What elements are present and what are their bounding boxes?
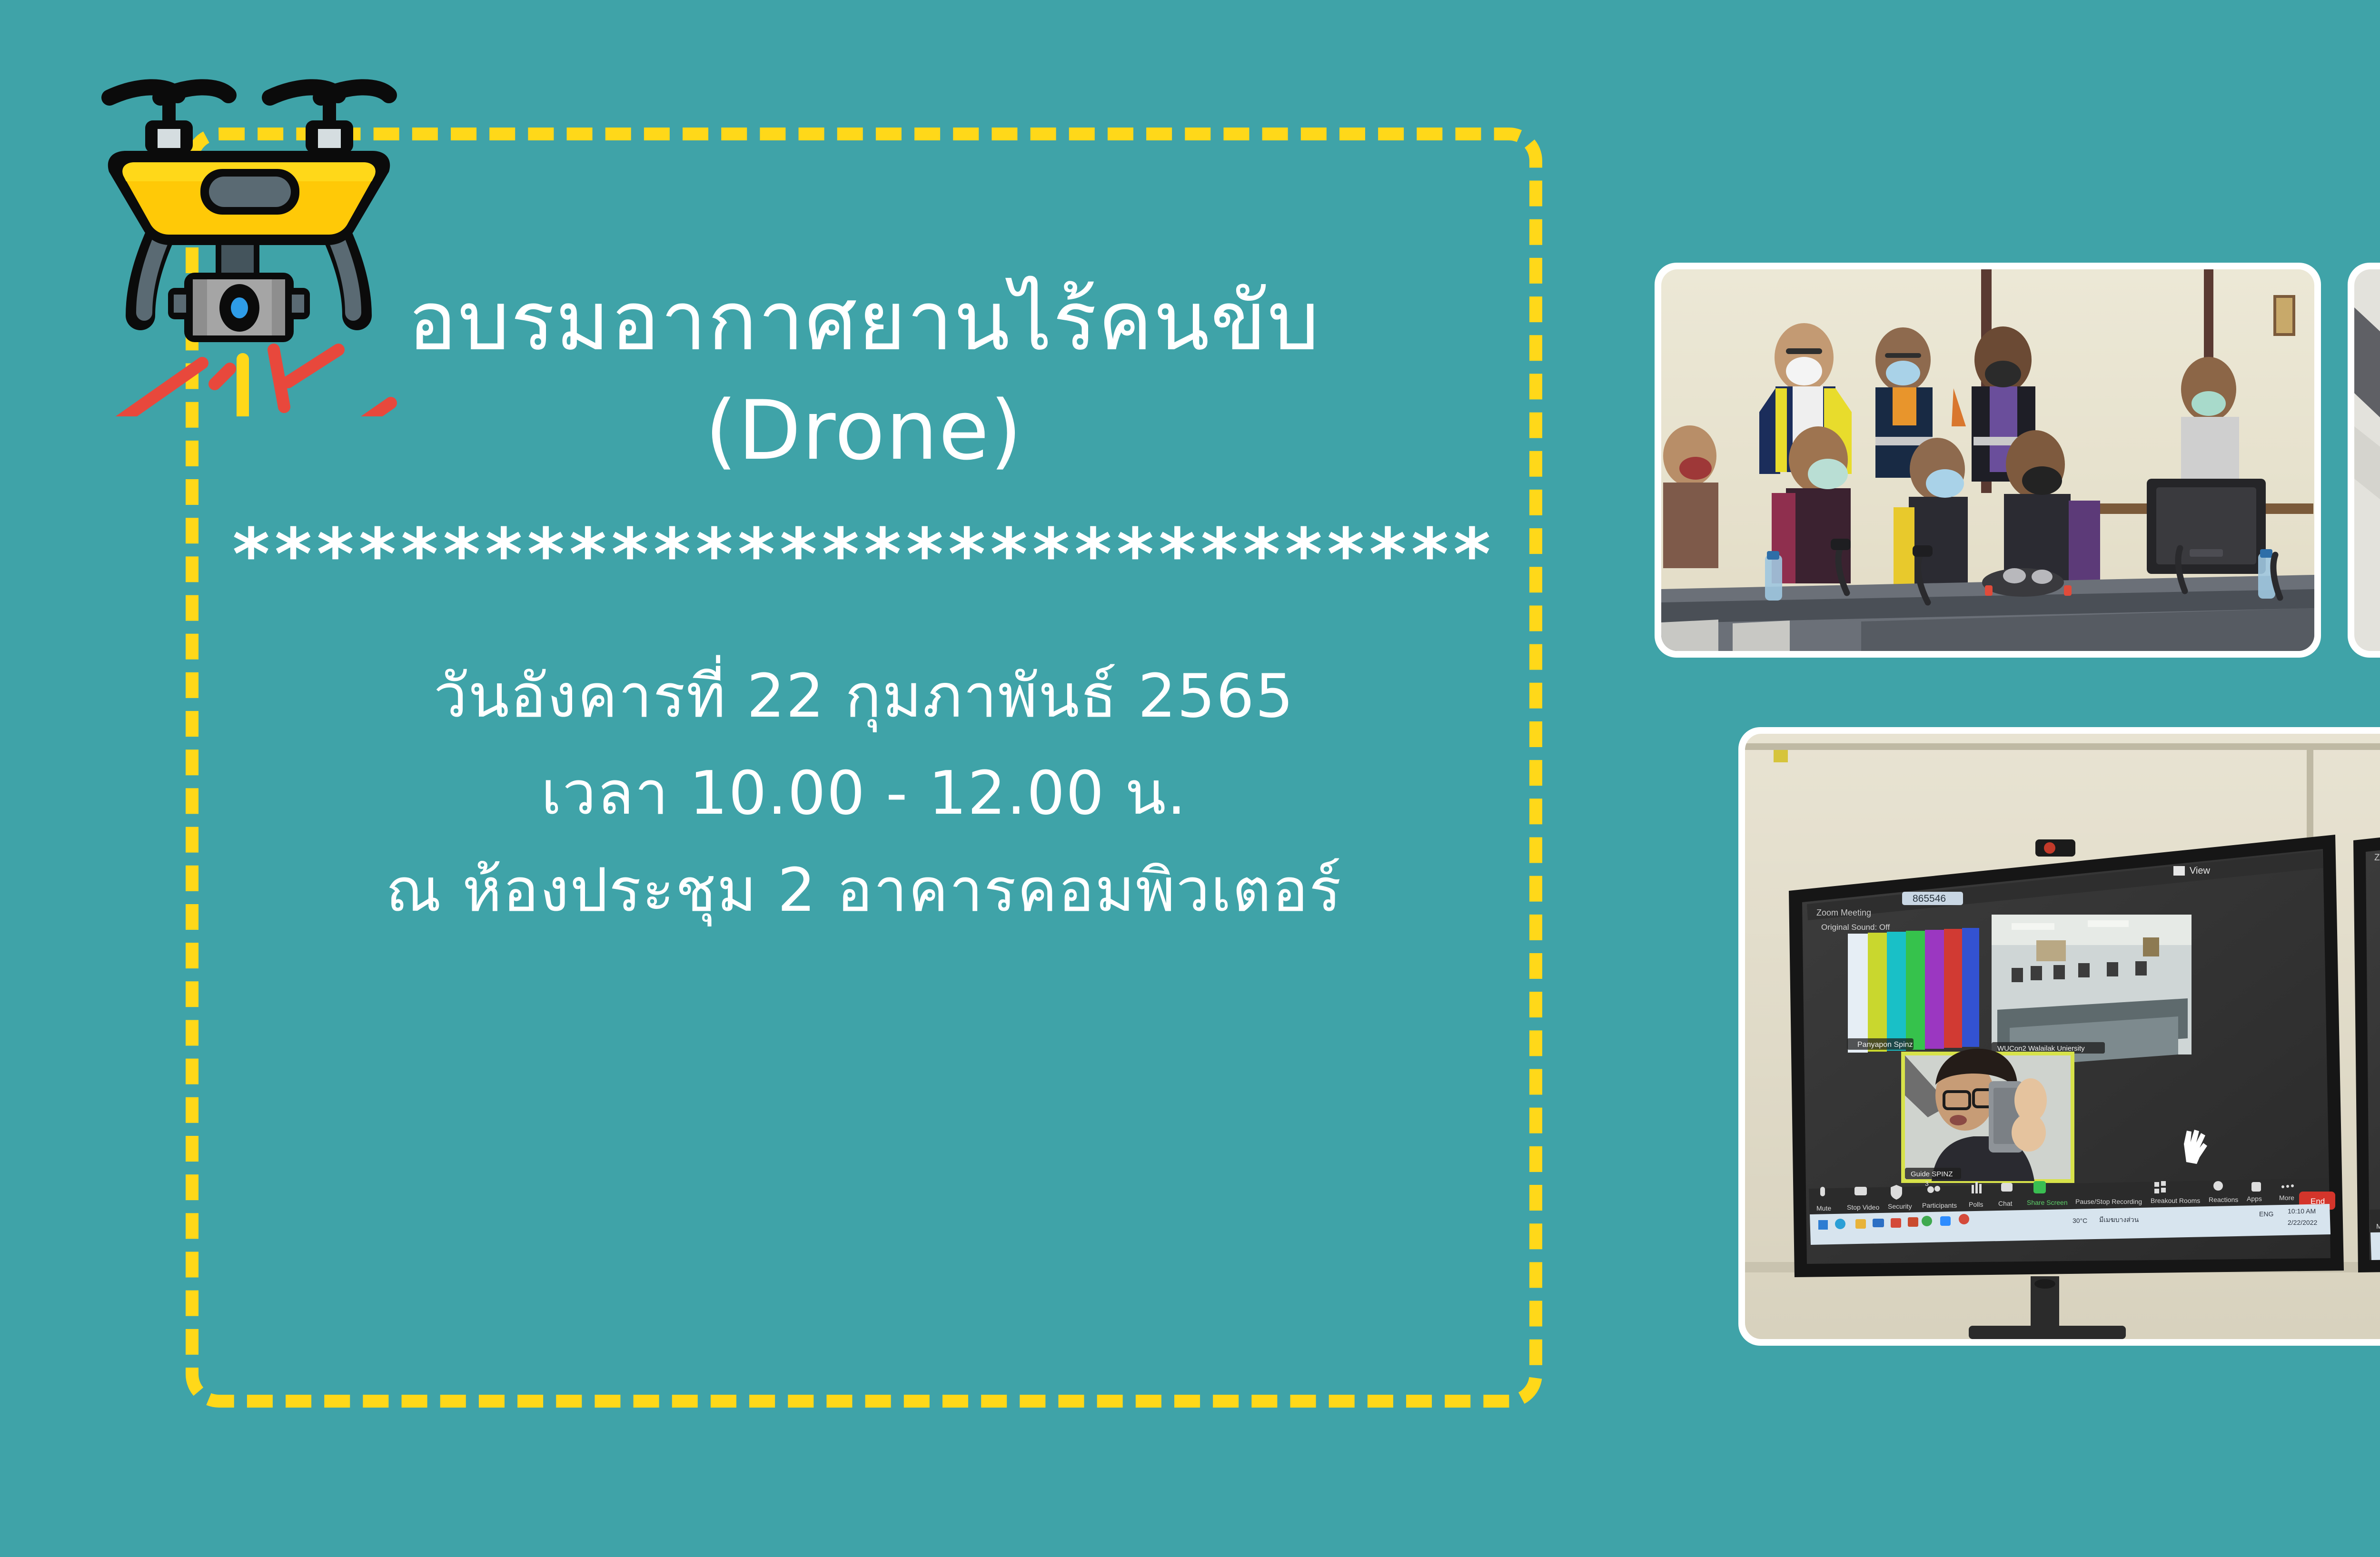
svg-text:Chat: Chat — [1998, 1200, 2013, 1207]
photo-speaker — [2348, 263, 2380, 658]
svg-text:มีเมฆบางส่วน: มีเมฆบางส่วน — [2099, 1216, 2139, 1223]
page-title-line-1: อบรมอากาศยานไร้คนขับ — [186, 266, 1542, 376]
svg-text:Security: Security — [1888, 1202, 1912, 1210]
svg-text:Reactions: Reactions — [2209, 1196, 2238, 1203]
asterisk-divider: ****************************** — [186, 519, 1542, 591]
svg-text:Participants: Participants — [1922, 1202, 1957, 1209]
svg-text:10:10 AM: 10:10 AM — [2288, 1207, 2316, 1215]
svg-text:Zoom Meeting: Zoom Meeting — [2374, 853, 2380, 863]
svg-text:865546: 865546 — [1913, 893, 1946, 904]
poster-canvas: อบรมอากาศยานไร้คนขับ (Drone) ***********… — [0, 0, 2380, 1557]
event-time: เวลา 10.00 - 12.00 น. — [186, 745, 1542, 842]
event-details: วันอังคารที่ 22 กุมภาพันธ์ 2565 เวลา 10.… — [186, 648, 1542, 939]
svg-text:ENG: ENG — [2259, 1210, 2273, 1218]
event-venue: ณ ห้องประชุม 2 อาคารคอมพิวเตอร์ — [186, 842, 1542, 939]
svg-text:Guide SPINZ: Guide SPINZ — [1911, 1170, 1953, 1178]
svg-text:View: View — [2190, 866, 2211, 876]
svg-text:Pause/Stop Recording: Pause/Stop Recording — [2075, 1198, 2142, 1205]
poster-text-block: อบรมอากาศยานไร้คนขับ (Drone) ***********… — [186, 266, 1542, 939]
svg-text:Panyapon Spinz: Panyapon Spinz — [1857, 1041, 1913, 1049]
photo-screens: 865546 Zoom Meeting Original Sound: Off … — [1738, 727, 2380, 1346]
svg-text:Original Sound: Off: Original Sound: Off — [1821, 923, 1890, 932]
photo-meeting-room — [1655, 263, 2321, 658]
event-date: วันอังคารที่ 22 กุมภาพันธ์ 2565 — [186, 648, 1542, 745]
svg-text:Share Screen: Share Screen — [2027, 1199, 2068, 1206]
svg-text:2/22/2022: 2/22/2022 — [2288, 1219, 2317, 1226]
svg-text:Breakout Rooms: Breakout Rooms — [2151, 1197, 2200, 1204]
svg-text:WUCon2 Walailak Uniersity: WUCon2 Walailak Uniersity — [1997, 1045, 2085, 1053]
svg-text:Zoom Meeting: Zoom Meeting — [1816, 908, 1871, 917]
svg-text:Mute: Mute — [1816, 1204, 1831, 1212]
svg-text:Stop Video: Stop Video — [1847, 1203, 1879, 1211]
svg-text:Polls: Polls — [1969, 1201, 1983, 1208]
svg-text:3: 3 — [1925, 1180, 1929, 1187]
svg-text:Apps: Apps — [2247, 1195, 2262, 1202]
svg-text:30°C: 30°C — [2073, 1217, 2087, 1224]
svg-text:More: More — [2279, 1194, 2294, 1202]
svg-text:Mute: Mute — [2376, 1222, 2380, 1231]
page-title-line-2: (Drone) — [186, 376, 1542, 485]
